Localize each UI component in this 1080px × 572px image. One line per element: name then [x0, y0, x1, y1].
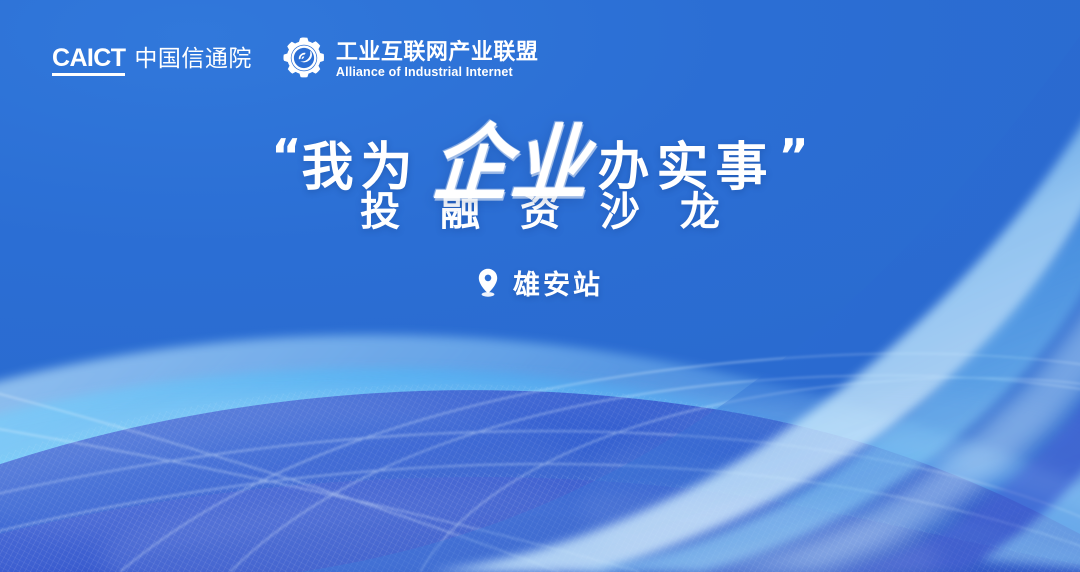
headline-close-quote: ”	[779, 133, 809, 179]
aii-english-name: Alliance of Industrial Internet	[336, 66, 539, 80]
venue-label: 雄安站	[510, 271, 603, 301]
wave-group-center	[0, 386, 1080, 560]
header-logos: CAICT 中国信通院 工业互联网产业联盟 Alliance of Indu	[52, 36, 538, 85]
venue-row: 雄安站	[0, 268, 1080, 303]
aii-chinese-name: 工业互联网产业联盟	[336, 41, 539, 65]
caict-chinese-name: 中国信通院	[134, 47, 252, 71]
poster-canvas: CAICT 中国信通院 工业互联网产业联盟 Alliance of Indu	[0, 0, 1080, 572]
gear-wifi-icon	[282, 36, 326, 85]
headline-tail: 办实事	[598, 142, 775, 194]
logo-alliance-of-industrial-internet[interactable]: 工业互联网产业联盟 Alliance of Industrial Interne…	[282, 36, 539, 85]
wave-group-deep	[0, 330, 1080, 572]
logo-caict[interactable]: CAICT 中国信通院	[52, 45, 252, 75]
glow-accents	[0, 390, 1080, 572]
headline-open-quote: “	[271, 133, 301, 179]
headline-brush-accent: 企业	[415, 122, 602, 206]
wave-group-left	[0, 335, 1080, 572]
aii-text-block: 工业互联网产业联盟 Alliance of Industrial Interne…	[336, 41, 539, 80]
headline-lead: 我为	[301, 142, 419, 194]
location-pin-icon	[477, 268, 499, 303]
caict-wordmark: CAICT	[52, 45, 125, 75]
wave-hairlines	[0, 354, 1080, 572]
